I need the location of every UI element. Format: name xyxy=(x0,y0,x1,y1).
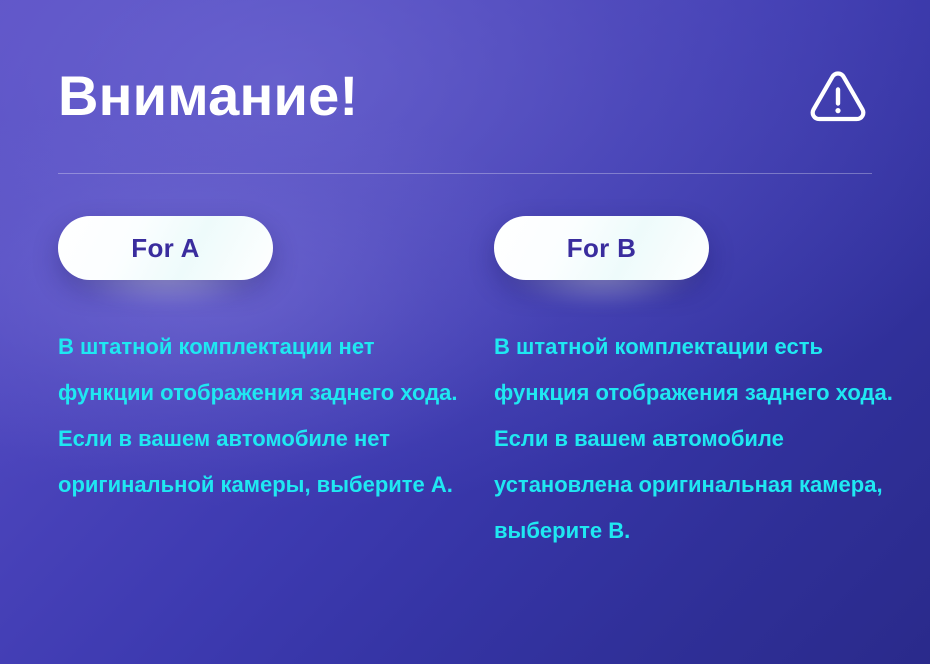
header-divider xyxy=(58,173,872,174)
option-a-paragraph-2: Если в вашем автомобиле нет оригинальной… xyxy=(58,416,458,508)
option-column-b: For B В штатной комплектации есть функци… xyxy=(494,216,930,554)
option-a-button-wrap: For A xyxy=(58,216,273,280)
option-a-button-label: For A xyxy=(131,233,199,264)
option-b-description: В штатной комплектации есть функция отоб… xyxy=(494,324,894,554)
options-columns: For A В штатной комплектации нет функции… xyxy=(0,216,930,554)
header: Внимание! xyxy=(58,52,872,140)
warning-notice-screen: Внимание! For A В штатной комплектации н… xyxy=(0,0,930,664)
option-b-paragraph-1: В штатной комплектации есть функция отоб… xyxy=(494,324,894,416)
option-a-button[interactable]: For A xyxy=(58,216,273,280)
option-a-description: В штатной комплектации нет функции отобр… xyxy=(58,324,458,508)
option-b-button-label: For B xyxy=(567,233,636,264)
warning-triangle-icon xyxy=(806,64,870,128)
page-title: Внимание! xyxy=(58,68,358,124)
option-b-paragraph-2: Если в вашем автомобиле установлена ориг… xyxy=(494,416,894,554)
option-a-paragraph-1: В штатной комплектации нет функции отобр… xyxy=(58,324,458,416)
option-b-button[interactable]: For B xyxy=(494,216,709,280)
option-column-a: For A В штатной комплектации нет функции… xyxy=(58,216,494,554)
option-b-button-wrap: For B xyxy=(494,216,709,280)
